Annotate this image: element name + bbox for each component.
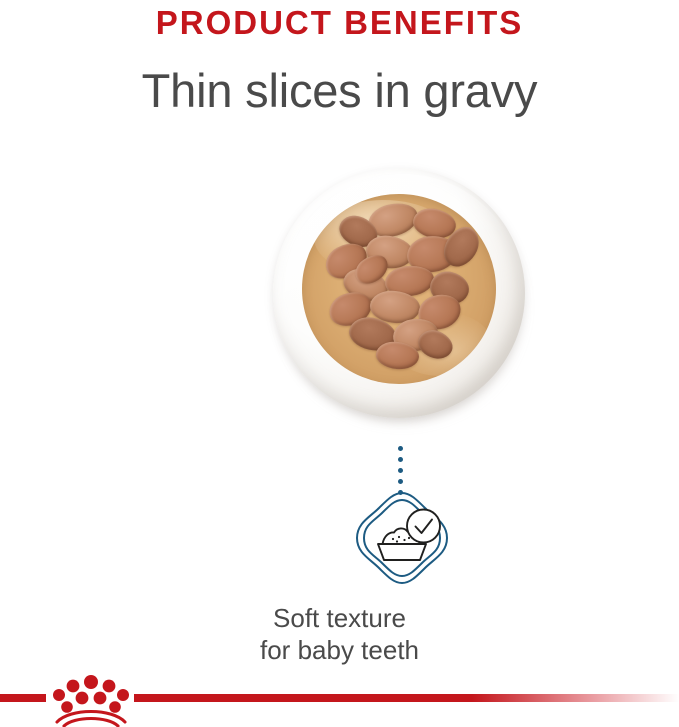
product-benefits-eyebrow: PRODUCT BENEFITS [0, 4, 679, 42]
product-bowl-image [269, 166, 531, 424]
royal-canin-crown-logo [50, 673, 132, 727]
meat-slices [302, 194, 496, 384]
connector-dot [398, 457, 403, 462]
gravy-pool [302, 194, 496, 384]
benefit-caption-line1: Soft texture [0, 602, 679, 634]
food-bowl-check-icon [353, 489, 451, 587]
connector-dot [398, 446, 403, 451]
dotted-connector [396, 446, 404, 492]
benefit-caption-line2: for baby teeth [0, 634, 679, 666]
connector-dot [398, 479, 403, 484]
footer-rule-left [0, 694, 46, 702]
benefit-caption: Soft texture for baby teeth [0, 602, 679, 666]
footer-rule-right [134, 694, 679, 702]
footer-brand-bar [0, 670, 679, 727]
page-title: Thin slices in gravy [0, 62, 679, 120]
connector-dot [398, 468, 403, 473]
